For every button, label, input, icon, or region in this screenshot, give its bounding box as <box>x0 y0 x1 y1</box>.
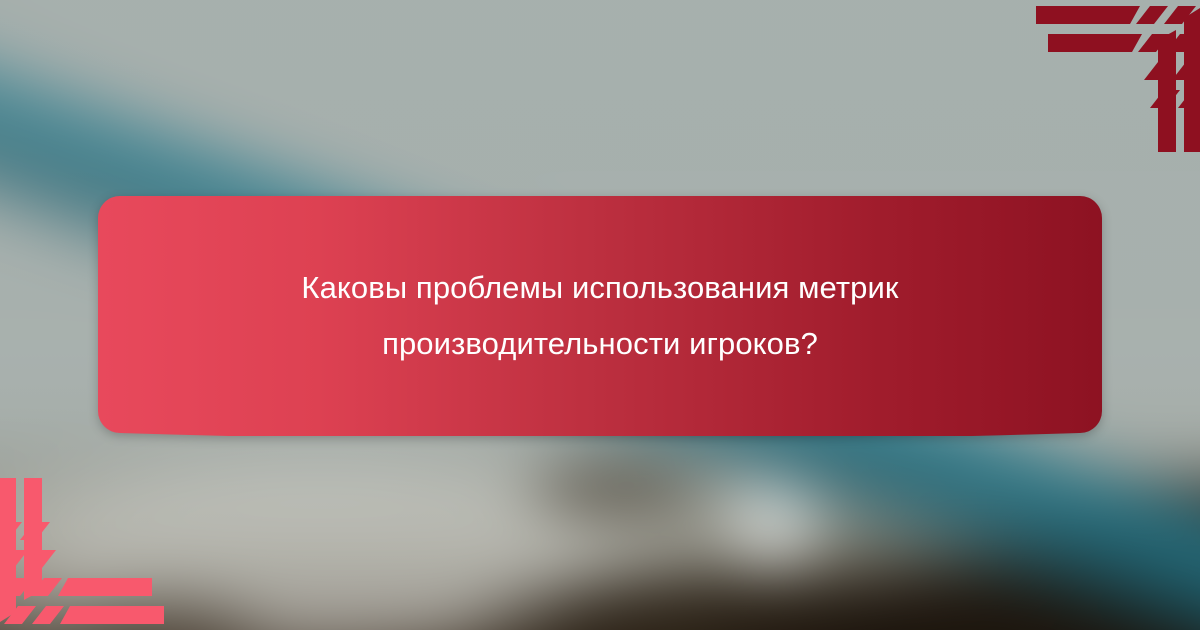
share-card: Каковы проблемы использования метрик про… <box>0 0 1200 630</box>
corner-ornament-top-right <box>1018 0 1200 152</box>
headline-banner: Каковы проблемы использования метрик про… <box>98 196 1102 436</box>
corner-ornament-top-right-graphic <box>1018 0 1200 152</box>
corner-ornament-bottom-left-graphic <box>0 478 182 630</box>
corner-ornament-bottom-left <box>0 478 182 630</box>
headline-line-1: Каковы проблемы использования метрик <box>301 260 898 316</box>
headline-line-2: производительности игроков? <box>382 316 818 372</box>
headline-text: Каковы проблемы использования метрик про… <box>98 196 1102 436</box>
